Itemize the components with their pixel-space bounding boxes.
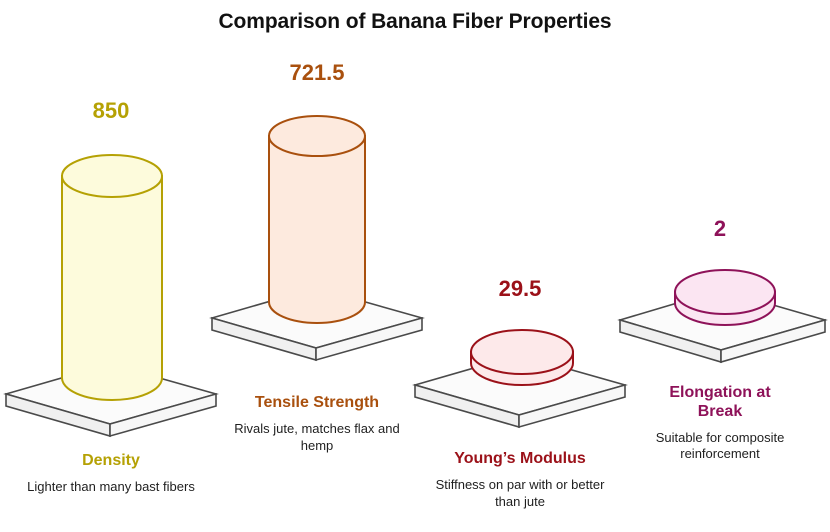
caption-title-tensile-strength: Tensile Strength — [206, 394, 428, 413]
page-title: Comparison of Banana Fiber Properties — [0, 10, 830, 34]
chart-item-tensile-strength[interactable]: 721.5 Tensile Strength Rivals jute, matc… — [206, 62, 428, 392]
cylinder-and-platform-elongation-at-break — [614, 218, 830, 368]
chart-item-density[interactable]: 850 Density Lighter than many bast fiber… — [0, 100, 222, 430]
caption-youngs-modulus: Young’s Modulus Stiffness on par with or… — [409, 450, 631, 510]
caption-title-youngs-modulus: Young’s Modulus — [409, 450, 631, 469]
cylinder-youngs-modulus — [471, 330, 573, 385]
caption-title-elongation-at-break: Elongation at Break — [614, 384, 826, 422]
chart-item-youngs-modulus[interactable]: 29.5 Young’s Modulus Stiffness on par wi… — [409, 278, 631, 428]
caption-tensile-strength: Tensile Strength Rivals jute, matches fl… — [206, 394, 428, 454]
cylinder-elongation-at-break — [675, 270, 775, 325]
caption-desc-elongation-at-break: Suitable for composite reinforcement — [614, 430, 826, 463]
cylinder-tensile-strength — [269, 116, 365, 323]
caption-title-density: Density — [0, 452, 222, 471]
caption-desc-tensile-strength: Rivals jute, matches flax and hemp — [206, 421, 428, 454]
caption-desc-density: Lighter than many bast fibers — [0, 479, 222, 496]
cylinder-and-platform-tensile-strength — [206, 62, 428, 392]
cylinder-density — [62, 155, 162, 400]
caption-elongation-at-break: Elongation at Break Suitable for composi… — [614, 384, 826, 463]
chart-item-elongation-at-break[interactable]: 2 Elongation at Break Suitable for compo… — [614, 218, 830, 368]
cylinder-and-platform-youngs-modulus — [409, 278, 631, 428]
caption-density: Density Lighter than many bast fibers — [0, 452, 222, 496]
caption-desc-youngs-modulus: Stiffness on par with or better than jut… — [409, 477, 631, 510]
cylinder-and-platform-density — [0, 100, 222, 430]
